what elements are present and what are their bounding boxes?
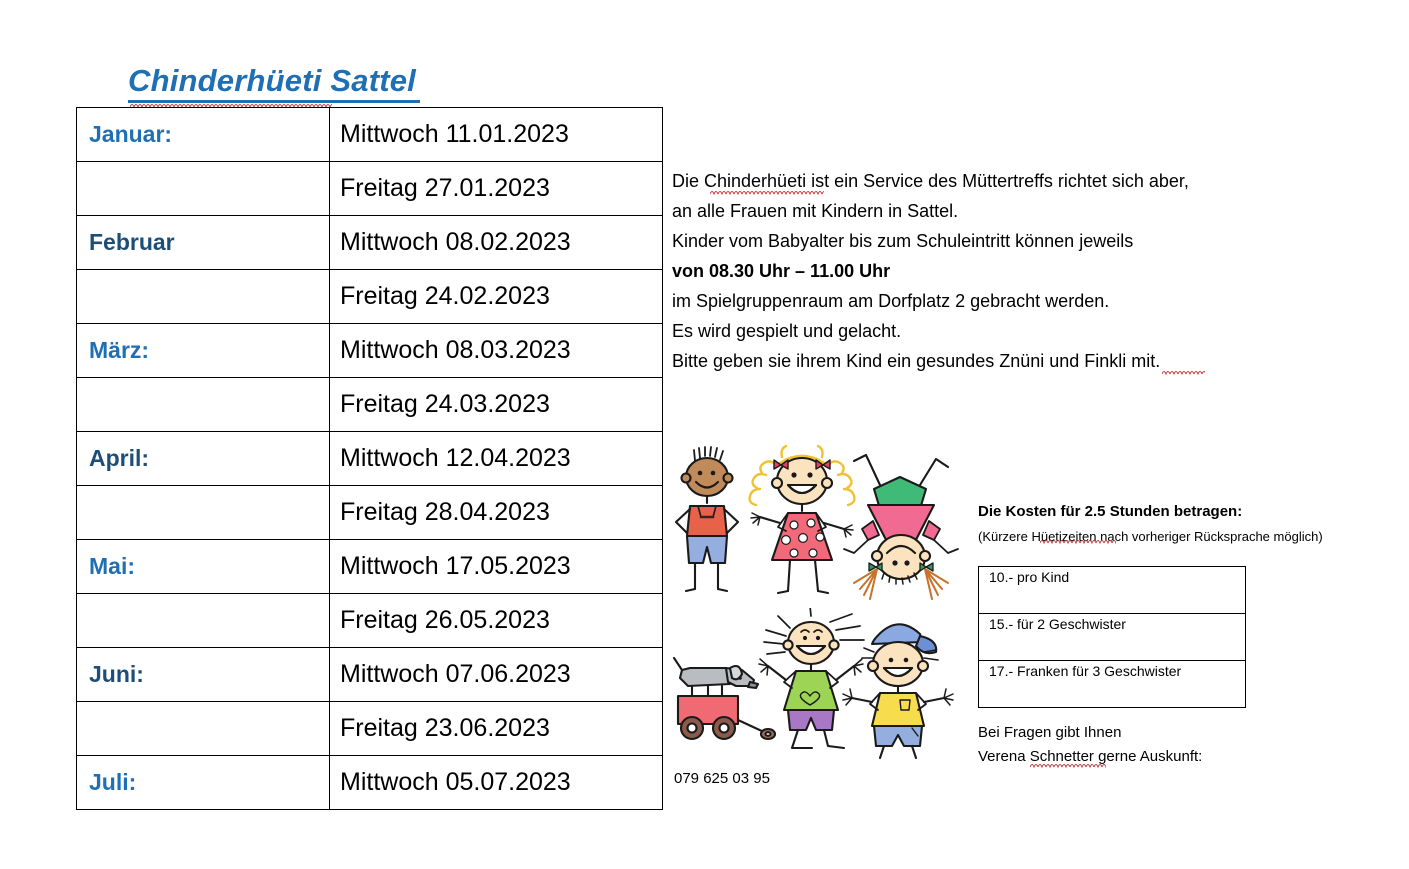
info-line-1: Die Chinderhüeti ist ein Service des Müt…: [672, 166, 1312, 196]
schedule-date-cell: Mittwoch 11.01.2023: [330, 108, 663, 162]
schedule-date-cell: Freitag 23.06.2023: [330, 702, 663, 756]
spellcheck-squiggle-icon: [1162, 369, 1205, 375]
schedule-month-cell: Juni:: [77, 648, 330, 702]
info-paragraph: Die Chinderhüeti ist ein Service des Müt…: [672, 166, 1312, 376]
schedule-month-cell: [77, 594, 330, 648]
table-row: 17.- Franken für 3 Geschwister: [979, 661, 1246, 708]
table-row: März: Mittwoch 08.03.2023: [77, 324, 663, 378]
schedule-date-cell: Mittwoch 08.02.2023: [330, 216, 663, 270]
info-line-2: an alle Frauen mit Kindern in Sattel.: [672, 196, 1312, 226]
title-underline: [128, 100, 420, 103]
schedule-date-cell: Mittwoch 17.05.2023: [330, 540, 663, 594]
info-line-7-text: Bitte geben sie ihrem Kind ein gesundes …: [672, 351, 1160, 371]
info-line-1-text: Die Chinderhüeti ist ein Service des Müt…: [672, 171, 1189, 191]
children-illustration-top: [668, 443, 960, 608]
schedule-month-cell: [77, 270, 330, 324]
schedule-month-cell: Juli:: [77, 756, 330, 810]
schedule-table: Januar: Mittwoch 11.01.2023 Freitag 27.0…: [76, 107, 663, 810]
info-line-6: Es wird gespielt und gelacht.: [672, 316, 1312, 346]
table-row: Freitag 27.01.2023: [77, 162, 663, 216]
table-row: Juni: Mittwoch 07.06.2023: [77, 648, 663, 702]
schedule-date-cell: Freitag 26.05.2023: [330, 594, 663, 648]
info-line-4-hours: von 08.30 Uhr – 11.00 Uhr: [672, 256, 1312, 286]
costs-cell: 10.- pro Kind: [979, 567, 1246, 614]
table-row: Freitag 26.05.2023: [77, 594, 663, 648]
schedule-date-cell: Mittwoch 05.07.2023: [330, 756, 663, 810]
schedule-month-cell: Mai:: [77, 540, 330, 594]
schedule-month-cell: März:: [77, 324, 330, 378]
schedule-month-cell: [77, 486, 330, 540]
table-row: April: Mittwoch 12.04.2023: [77, 432, 663, 486]
info-line-3: Kinder vom Babyalter bis zum Schuleintri…: [672, 226, 1312, 256]
schedule-month-cell: April:: [77, 432, 330, 486]
table-row: Freitag 24.03.2023: [77, 378, 663, 432]
page-title-text: Chinderhüeti Sattel: [128, 63, 416, 98]
table-row: 15.- für 2 Geschwister: [979, 614, 1246, 661]
schedule-month-cell: [77, 702, 330, 756]
info-line-5: im Spielgruppenraum am Dorfplatz 2 gebra…: [672, 286, 1312, 316]
schedule-date-cell: Mittwoch 07.06.2023: [330, 648, 663, 702]
table-row: Februar Mittwoch 08.02.2023: [77, 216, 663, 270]
schedule-month-cell: [77, 378, 330, 432]
schedule-date-cell: Mittwoch 08.03.2023: [330, 324, 663, 378]
schedule-month-cell: Januar:: [77, 108, 330, 162]
table-row: Freitag 23.06.2023: [77, 702, 663, 756]
schedule-month-cell: [77, 162, 330, 216]
schedule-date-cell: Freitag 24.02.2023: [330, 270, 663, 324]
costs-note-text: (Kürzere Hüetizeiten nach vorheriger Rüc…: [978, 529, 1323, 544]
table-row: Freitag 28.04.2023: [77, 486, 663, 540]
table-row: Januar: Mittwoch 11.01.2023: [77, 108, 663, 162]
schedule-date-cell: Freitag 27.01.2023: [330, 162, 663, 216]
contact-line-1: Bei Fragen gibt Ihnen: [978, 721, 1202, 745]
costs-note: (Kürzere Hüetizeiten nach vorheriger Rüc…: [978, 529, 1323, 544]
costs-cell: 15.- für 2 Geschwister: [979, 614, 1246, 661]
schedule-date-cell: Freitag 28.04.2023: [330, 486, 663, 540]
table-row: Mai: Mittwoch 17.05.2023: [77, 540, 663, 594]
costs-cell: 17.- Franken für 3 Geschwister: [979, 661, 1246, 708]
contact-block: Bei Fragen gibt Ihnen Verena Schnetter g…: [978, 721, 1202, 769]
info-line-7: Bitte geben sie ihrem Kind ein gesundes …: [672, 346, 1312, 376]
table-row: Juli: Mittwoch 05.07.2023: [77, 756, 663, 810]
schedule-month-cell: Februar: [77, 216, 330, 270]
schedule-date-cell: Freitag 24.03.2023: [330, 378, 663, 432]
table-row: Freitag 24.02.2023: [77, 270, 663, 324]
schedule-date-cell: Mittwoch 12.04.2023: [330, 432, 663, 486]
contact-line-2-text: Verena Schnetter gerne Auskunft:: [978, 748, 1202, 765]
phone-number: 079 625 03 95: [674, 770, 770, 787]
table-row: 10.- pro Kind: [979, 567, 1246, 614]
children-illustration-bottom: [668, 608, 960, 760]
contact-line-2: Verena Schnetter gerne Auskunft:: [978, 745, 1202, 769]
page-title: Chinderhüeti Sattel: [128, 63, 416, 99]
schedule-table-body: Januar: Mittwoch 11.01.2023 Freitag 27.0…: [77, 108, 663, 810]
costs-heading: Die Kosten für 2.5 Stunden betragen:: [978, 503, 1242, 520]
costs-table: 10.- pro Kind 15.- für 2 Geschwister 17.…: [978, 566, 1246, 708]
costs-table-body: 10.- pro Kind 15.- für 2 Geschwister 17.…: [979, 567, 1246, 708]
